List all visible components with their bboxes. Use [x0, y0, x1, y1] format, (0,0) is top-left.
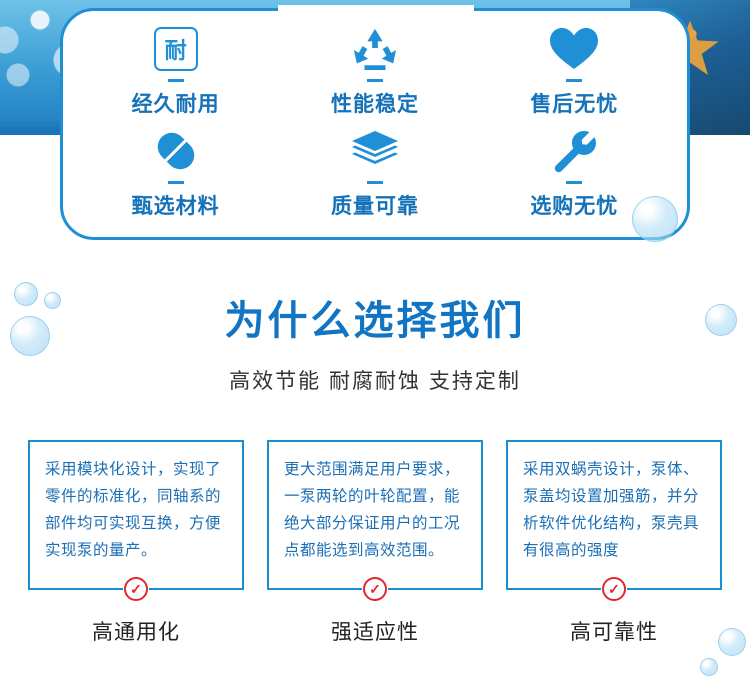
durability-icon: 耐: [154, 26, 198, 72]
heart-icon: [549, 26, 599, 72]
feature-label: 售后无忧: [530, 88, 618, 118]
capsule-icon: [154, 128, 198, 174]
bubble-decoration: [632, 196, 678, 242]
reason-name: 强适应性: [331, 616, 419, 646]
layers-icon: [351, 128, 399, 174]
feature-label: 选购无忧: [530, 190, 618, 220]
reason-text: 采用双蜗壳设计，泵体、泵盖均设置加强筋，并分析软件优化结构，泵壳具有很高的强度: [506, 440, 722, 590]
feature-label: 经久耐用: [132, 88, 220, 118]
feature-item-aftersales: 售后无忧: [475, 26, 674, 128]
check-badge: ✓: [601, 576, 627, 602]
page-subtitle: 高效节能 耐腐耐蚀 支持定制: [0, 365, 750, 395]
feature-item-durable: 耐 经久耐用: [76, 26, 275, 128]
divider: [168, 79, 184, 82]
feature-grid: 耐 经久耐用 性能稳定 售: [60, 8, 690, 240]
check-icon: ✓: [602, 577, 626, 601]
check-icon: ✓: [124, 577, 148, 601]
reason-text: 更大范围满足用户要求，一泵两轮的叶轮配置，能绝大部分保证用户的工况点都能选到高效…: [267, 440, 483, 590]
feature-label: 性能稳定: [331, 88, 419, 118]
reason-card: 采用双蜗壳设计，泵体、泵盖均设置加强筋，并分析软件优化结构，泵壳具有很高的强度 …: [506, 440, 722, 646]
check-badge: ✓: [123, 576, 149, 602]
reason-card: 更大范围满足用户要求，一泵两轮的叶轮配置，能绝大部分保证用户的工况点都能选到高效…: [267, 440, 483, 646]
feature-label: 质量可靠: [331, 190, 419, 220]
page-title: 为什么选择我们: [0, 288, 750, 346]
divider: [168, 181, 184, 184]
reason-name: 高可靠性: [570, 616, 658, 646]
feature-item-quality: 质量可靠: [275, 128, 474, 230]
divider: [367, 181, 383, 184]
feature-item-material: 甄选材料: [76, 128, 275, 230]
feature-item-stable: 性能稳定: [275, 26, 474, 128]
divider: [566, 79, 582, 82]
wrench-icon: [552, 128, 596, 174]
reason-cards: 采用模块化设计，实现了零件的标准化，同轴系的部件均可实现互换，方便实现泵的量产。…: [0, 440, 750, 646]
divider: [566, 181, 582, 184]
recycle-icon: [352, 26, 398, 72]
feature-label: 甄选材料: [132, 190, 220, 220]
check-badge: ✓: [362, 576, 388, 602]
reason-card: 采用模块化设计，实现了零件的标准化，同轴系的部件均可实现互换，方便实现泵的量产。…: [28, 440, 244, 646]
check-icon: ✓: [363, 577, 387, 601]
divider: [367, 79, 383, 82]
reason-name: 高通用化: [92, 616, 180, 646]
durability-icon-glyph: 耐: [154, 27, 198, 71]
bubble-decoration: [700, 658, 718, 676]
reason-text: 采用模块化设计，实现了零件的标准化，同轴系的部件均可实现互换，方便实现泵的量产。: [28, 440, 244, 590]
